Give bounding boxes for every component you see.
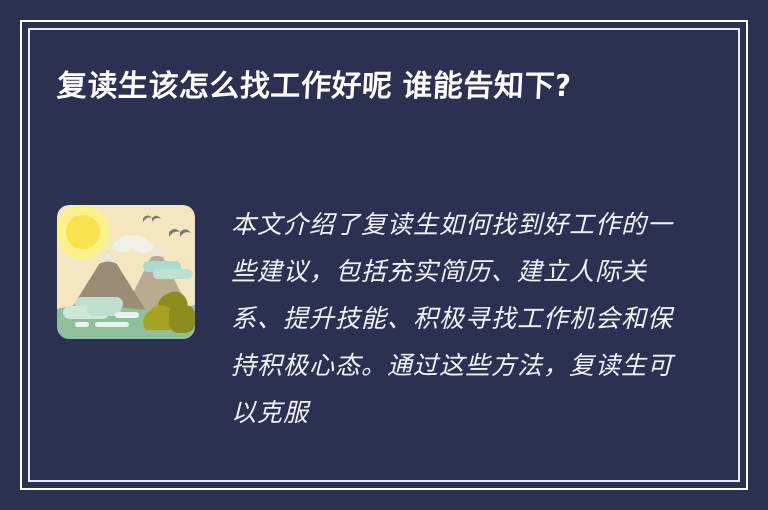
article-thumbnail: [57, 205, 195, 339]
article-card: 复读生该怎么找工作好呢 谁能告知下?: [0, 0, 768, 510]
mountain-landscape-icon: [57, 205, 195, 339]
article-summary: 本文介绍了复读生如何找到好工作的一些建议，包括充实简历、建立人际关系、提升技能、…: [231, 201, 681, 436]
article-title: 复读生该怎么找工作好呢 谁能告知下?: [56, 62, 679, 112]
